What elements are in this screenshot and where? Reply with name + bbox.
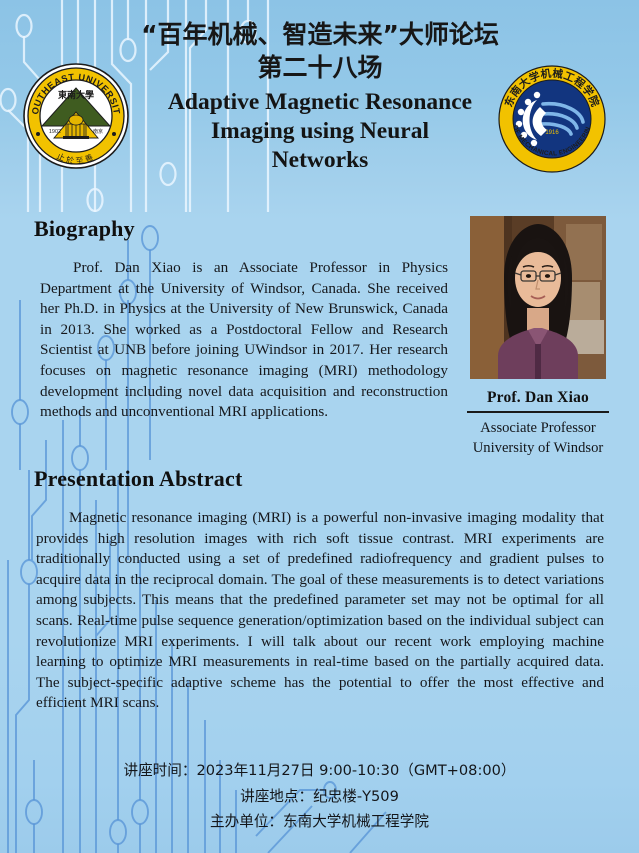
speaker-divider [467, 411, 609, 413]
biography-heading: Biography [34, 216, 135, 242]
poster-title-block: “百年机械、智造未来”大师论坛 第二十八场 Adaptive Magnetic … [128, 18, 512, 175]
speaker-card: Prof. Dan Xiao Associate Professor Unive… [455, 214, 621, 458]
title-chinese-line1: “百年机械、智造未来”大师论坛 [128, 18, 512, 51]
poster-footer: 讲座时间：2023年11月27日 9:00-10:30（GMT+08:00） 讲… [0, 758, 639, 835]
footer-venue: 讲座地点：纪忠楼-Y509 [0, 784, 639, 810]
footer-time: 讲座时间：2023年11月27日 9:00-10:30（GMT+08:00） [0, 758, 639, 784]
school-of-mechanical-engineering-logo: 1916 东南大学机械工程学院 SCHOOL OF MECHANICAL ENG… [497, 64, 607, 174]
svg-text:1902: 1902 [49, 129, 61, 135]
biography-text: Prof. Dan Xiao is an Associate Professor… [40, 258, 448, 423]
svg-text:東南大學: 東南大學 [58, 89, 94, 101]
abstract-text: Magnetic resonance imaging (MRI) is a po… [36, 508, 604, 714]
speaker-affiliation: University of Windsor [455, 438, 621, 458]
svg-text:南京: 南京 [93, 128, 103, 135]
poster-header: 東南大學 1902 南京 SOUTHEAST UNIVERSITY 止於至善 [0, 0, 639, 212]
title-english-line3: Networks [128, 146, 512, 175]
seminar-poster: 東南大學 1902 南京 SOUTHEAST UNIVERSITY 止於至善 [0, 0, 639, 853]
speaker-photo [470, 216, 606, 379]
southeast-university-logo: 東南大學 1902 南京 SOUTHEAST UNIVERSITY 止於至善 [22, 62, 130, 170]
footer-host: 主办单位：东南大学机械工程学院 [0, 809, 639, 835]
speaker-name: Prof. Dan Xiao [455, 389, 621, 407]
title-english-line2: Imaging using Neural [128, 117, 512, 146]
svg-text:1916: 1916 [545, 130, 559, 136]
abstract-heading: Presentation Abstract [34, 466, 242, 492]
title-english: Adaptive Magnetic Resonance Imaging usin… [128, 88, 512, 175]
title-english-line1: Adaptive Magnetic Resonance [128, 88, 512, 117]
speaker-title: Associate Professor [455, 418, 621, 438]
title-chinese-line2: 第二十八场 [128, 51, 512, 85]
